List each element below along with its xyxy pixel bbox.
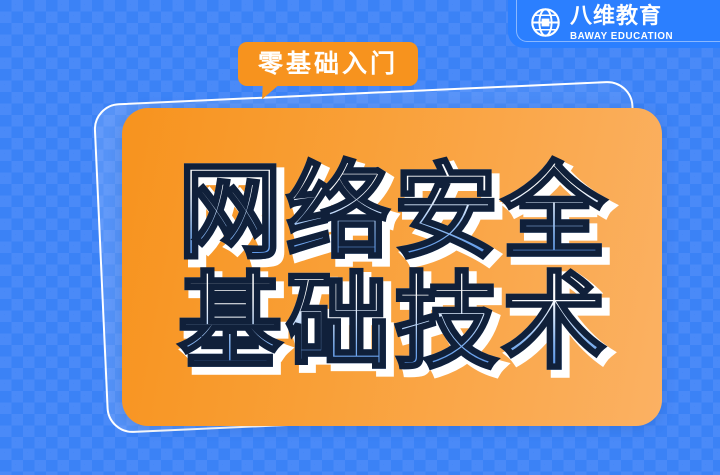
headline-line-2: 基 础 技 术 — [176, 270, 608, 374]
headline-char: 全 — [502, 160, 606, 264]
headline-char: 技 — [394, 270, 498, 374]
brand-logo-plate: 八维教育 BAWAY EDUCATION — [508, 0, 720, 48]
poster-canvas: 网 络 安 全 基 础 技 术 零基础入门 八维教育 — [0, 0, 720, 475]
course-level-badge: 零基础入门 — [238, 42, 418, 86]
globe-icon — [530, 7, 561, 42]
headline-char: 础 — [286, 270, 390, 374]
headline-char: 基 — [178, 270, 282, 374]
headline-char: 网 — [178, 160, 282, 264]
headline-line-1: 网 络 安 全 — [176, 160, 608, 264]
headline-char: 术 — [502, 270, 606, 374]
brand-name-cn: 八维教育 — [570, 6, 681, 28]
headline-char: 络 — [286, 160, 390, 264]
main-title-card: 网 络 安 全 基 础 技 术 — [122, 108, 662, 426]
brand-name-en: BAWAY EDUCATION — [570, 31, 673, 42]
headline-char: 安 — [394, 160, 498, 264]
brand-text-block: 八维教育 BAWAY EDUCATION — [570, 6, 681, 42]
course-level-badge-label: 零基础入门 — [258, 51, 398, 76]
